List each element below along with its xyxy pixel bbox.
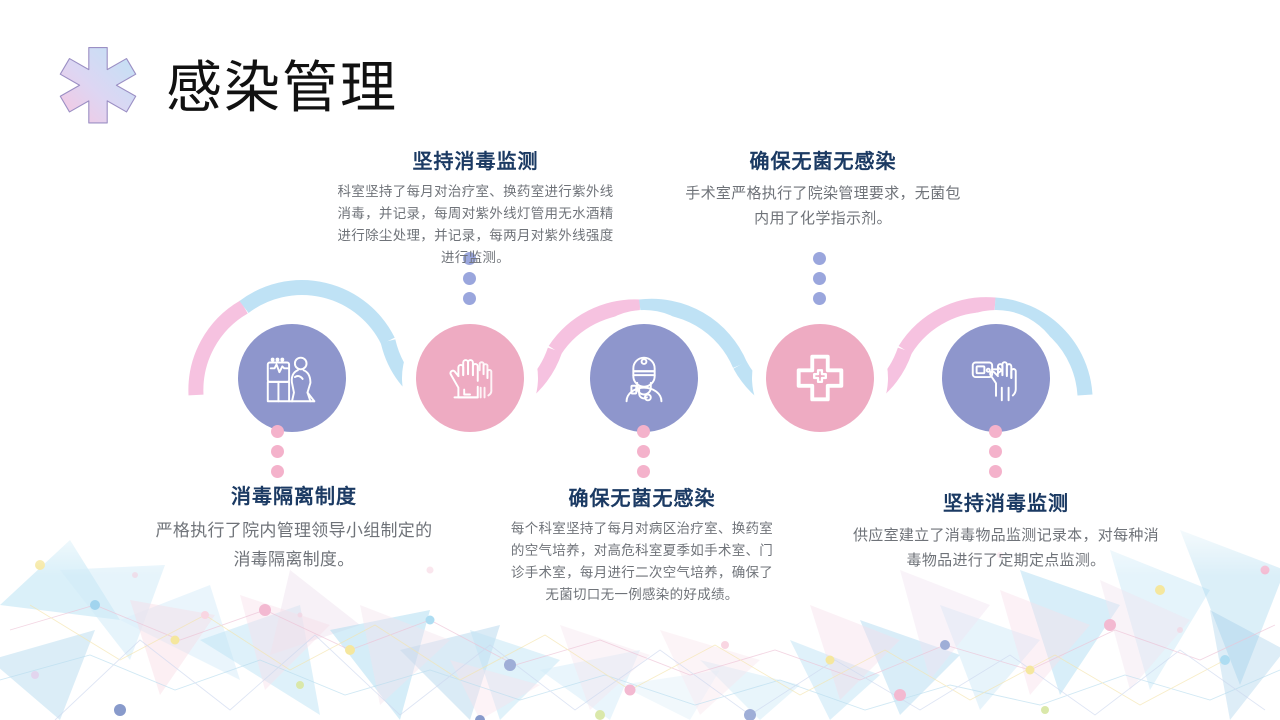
asterisk-star-of-life-icon: [52, 42, 144, 134]
node-body-3: 每个科室坚持了每月对病区治疗室、换药室的空气培养，对高危科室夏季如手术室、门诊手…: [508, 518, 776, 605]
node-body-2: 科室坚持了每月对治疗室、换药室进行紫外线消毒，并记录，每周对紫外线灯管用无水酒精…: [333, 181, 618, 268]
medical-cross-icon: [789, 347, 851, 409]
dot: [271, 445, 284, 458]
node-body-1: 严格执行了院内管理领导小组制定的消毒隔离制度。: [150, 516, 438, 574]
dot: [463, 292, 476, 305]
node-circle-2[interactable]: [416, 324, 524, 432]
node-text-2: 坚持消毒监测 科室坚持了每月对治疗室、换药室进行紫外线消毒，并记录，每周对紫外线…: [333, 145, 618, 268]
node-text-5: 坚持消毒监测 供应室建立了消毒物品监测记录本，对每种消毒物品进行了定期定点监测。: [848, 487, 1164, 573]
dot: [813, 272, 826, 285]
gloved-hands-icon: [439, 347, 501, 409]
slide-root: 感染管理: [0, 0, 1280, 720]
dot: [989, 425, 1002, 438]
node-heading-1: 消毒隔离制度: [150, 480, 438, 509]
dot: [637, 425, 650, 438]
node-circle-5[interactable]: [942, 324, 1050, 432]
node-circle-3[interactable]: [590, 324, 698, 432]
node-heading-2: 坚持消毒监测: [333, 145, 618, 174]
dot-connector-3: [637, 425, 650, 478]
dot-connector-4: [813, 252, 826, 305]
node-text-3: 确保无菌无感染 每个科室坚持了每月对病区治疗室、换药室的空气培养，对高危科室夏季…: [508, 482, 776, 605]
dot: [813, 292, 826, 305]
dot-connector-5: [989, 425, 1002, 478]
dot: [271, 425, 284, 438]
dot: [813, 252, 826, 265]
page-title-row: 感染管理: [52, 42, 398, 134]
node-circle-4[interactable]: [766, 324, 874, 432]
node-circle-1[interactable]: [238, 324, 346, 432]
dot: [463, 272, 476, 285]
node-body-4: 手术室严格执行了院染管理要求，无菌包内用了化学指示剂。: [683, 181, 963, 231]
hand-sanitizer-dispenser-icon: [965, 347, 1027, 409]
node-body-5: 供应室建立了消毒物品监测记录本，对每种消毒物品进行了定期定点监测。: [848, 523, 1164, 573]
dot: [989, 445, 1002, 458]
dot: [989, 465, 1002, 478]
surgeon-doctor-icon: [613, 347, 675, 409]
dot: [637, 465, 650, 478]
dot: [637, 445, 650, 458]
dot: [271, 465, 284, 478]
node-text-4: 确保无菌无感染 手术室严格执行了院染管理要求，无菌包内用了化学指示剂。: [683, 145, 963, 231]
dot-connector-1: [271, 425, 284, 478]
node-heading-3: 确保无菌无感染: [508, 482, 776, 511]
patient-monitor-nurse-icon: [261, 347, 323, 409]
node-heading-4: 确保无菌无感染: [683, 145, 963, 174]
node-text-1: 消毒隔离制度 严格执行了院内管理领导小组制定的消毒隔离制度。: [150, 480, 438, 574]
node-heading-5: 坚持消毒监测: [848, 487, 1164, 516]
page-title: 感染管理: [166, 60, 398, 116]
